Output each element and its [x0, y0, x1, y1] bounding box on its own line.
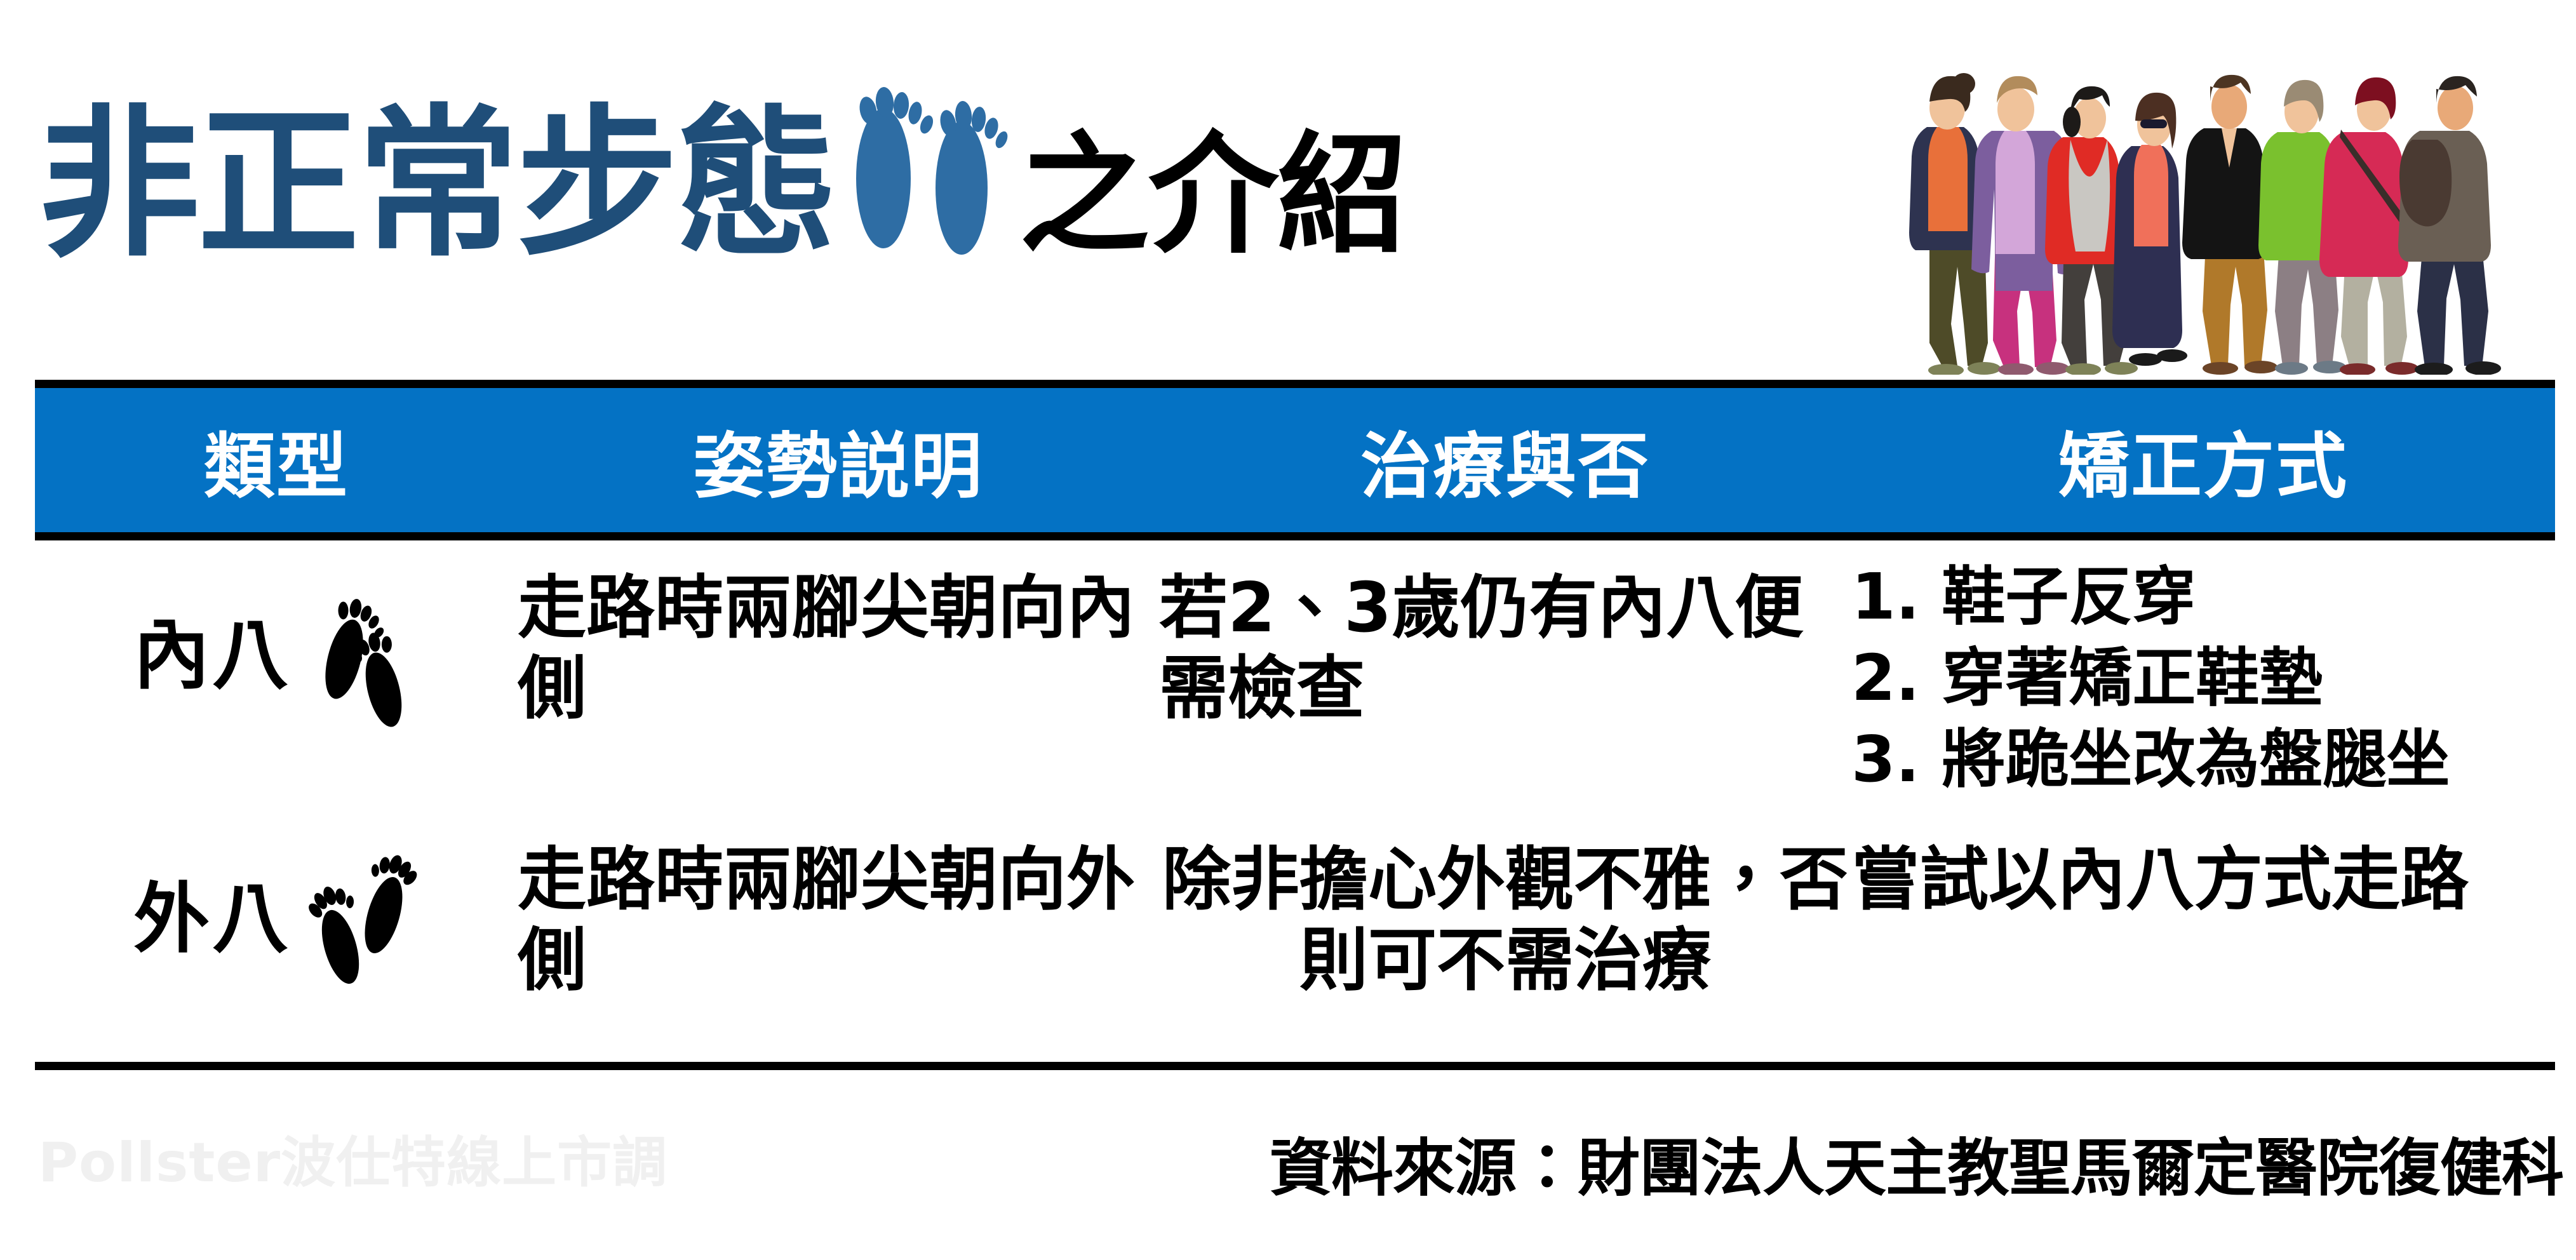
row1-type-cell: 內八 — [35, 551, 518, 761]
out-toeing-footprints-icon — [305, 847, 419, 993]
title-sub-text: 之介紹 — [1019, 131, 1406, 261]
row2-treatment-cell: 除非擔心外觀不雅，否則可不需治療 — [1159, 818, 1851, 1002]
column-header-treatment: 治療與否 — [1159, 409, 1851, 512]
slide-root: 非正常步態 — [0, 0, 2576, 1260]
row1-correction-list: 鞋子反穿 穿著矯正鞋墊 將跪坐改為盤腿坐 — [1851, 556, 2555, 800]
row2-type-cell: 外八 — [35, 818, 518, 1021]
table-bottom-rule — [35, 1062, 2555, 1070]
row1-correction-cell: 鞋子反穿 穿著矯正鞋墊 將跪坐改為盤腿坐 — [1851, 551, 2555, 800]
table-row: 內八 — [35, 551, 2555, 799]
walking-people-illustration — [1880, 13, 2559, 375]
title-main-text: 非正常步態 — [38, 104, 835, 265]
row2-correction-cell: 嘗試以內八方式走路 — [1851, 818, 2555, 920]
list-item: 將跪坐改為盤腿坐 — [1851, 719, 2555, 800]
column-header-type: 類型 — [35, 409, 518, 512]
in-toeing-footprints-icon — [305, 583, 419, 729]
row1-treatment-cell: 若2、3歲仍有內八便需檢查 — [1159, 551, 1851, 730]
row1-type-label: 內八 — [133, 611, 291, 701]
row1-posture-cell: 走路時兩腳尖朝向內側 — [518, 551, 1159, 730]
row2-posture-cell: 走路時兩腳尖朝向外側 — [518, 818, 1159, 1002]
table-header-bottom-rule — [35, 532, 2555, 540]
column-header-correction: 矯正方式 — [1851, 409, 2555, 512]
table-row: 外八 — [35, 818, 2555, 1059]
footprints-icon — [831, 67, 1016, 258]
column-header-posture: 姿勢説明 — [518, 409, 1159, 512]
list-item: 穿著矯正鞋墊 — [1851, 638, 2555, 719]
watermark: Pollster波仕特線上市調 — [38, 1118, 667, 1197]
row2-type-label: 外八 — [133, 875, 291, 965]
list-item: 鞋子反穿 — [1851, 556, 2555, 638]
source-credit: 資料來源：財團法人天主教聖馬爾定醫院復健科 — [1270, 1118, 2563, 1208]
page-title: 非正常步態 — [38, 89, 1406, 279]
table-header-row: 類型 姿勢説明 治療與否 矯正方式 — [35, 388, 2555, 532]
table-top-rule — [35, 380, 2555, 388]
